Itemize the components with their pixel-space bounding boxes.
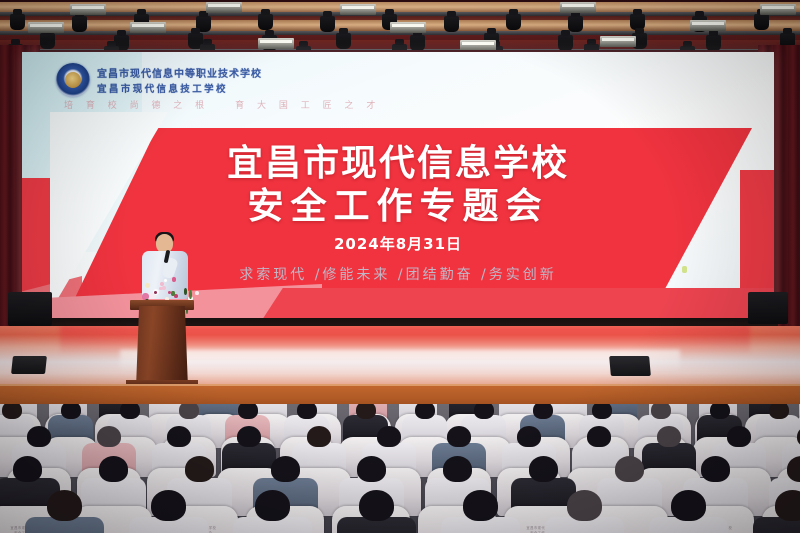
audience-member-head (255, 490, 290, 521)
audience-member-head (97, 426, 121, 447)
motto-right: 育 大 国 工 匠 之 才 (235, 101, 380, 111)
spotlight-icon (258, 14, 273, 30)
audience-member-head (151, 490, 186, 521)
audience-member-head (307, 426, 331, 447)
audience-member-head (297, 404, 317, 419)
school-name-line1: 宜昌市现代信息中等职业技术学校 (97, 65, 262, 80)
screen-title-main: 宜昌市现代信息学校 (22, 146, 774, 182)
spotlight-icon (72, 16, 87, 32)
audience-member-head (474, 404, 494, 419)
audience-member-head (237, 426, 261, 447)
spotlight-icon (410, 35, 425, 51)
school-name-block: 宜昌市现代信息中等职业技术学校 宜昌市现代信息技工学校 (97, 65, 262, 95)
audience-member-head (377, 426, 401, 447)
spotlight-icon (506, 14, 521, 30)
bar-light-icon (206, 2, 242, 13)
spotlight-icon (444, 16, 459, 32)
screen-motto: 培 育 校 尚 德 之 根育 大 国 工 匠 之 才 (64, 98, 380, 111)
flower-leaf (184, 288, 188, 295)
audience-member-head (179, 404, 199, 419)
audience-member-head (517, 426, 541, 447)
bar-light-icon (70, 4, 106, 15)
motto-left: 培 育 校 尚 德 之 根 (64, 101, 209, 111)
podium-area (112, 232, 218, 392)
audience-member-head (615, 456, 644, 482)
audience-member-head (61, 404, 81, 419)
school-emblem-icon (56, 63, 90, 97)
audience-member-head (769, 404, 789, 419)
audience-member-head (671, 490, 706, 521)
bar-light-icon (130, 22, 166, 33)
screen-title-sub: 安全工作专题会 (22, 189, 774, 225)
bar-light-icon (600, 36, 636, 47)
audience-member-head (27, 426, 51, 447)
truss-rail-1 (0, 12, 800, 16)
audience-member-head (185, 456, 214, 482)
spotlight-icon (568, 16, 583, 32)
audience-member-head (359, 490, 394, 521)
audience-member-head (443, 456, 472, 482)
spotlight-icon (706, 35, 721, 51)
audience-member-head (271, 456, 300, 482)
flower-blossom (145, 283, 150, 288)
stage-speaker-left (8, 292, 52, 326)
bar-light-icon (28, 22, 64, 33)
audience-member-head (529, 456, 558, 482)
screen-school-header: 宜昌市现代信息中等职业技术学校 宜昌市现代信息技工学校 (56, 58, 356, 102)
lectern-body (136, 306, 188, 388)
flower-blossom (195, 291, 199, 295)
audience-member-head (120, 404, 140, 419)
spotlight-icon (320, 16, 335, 32)
audience-member-head (238, 404, 258, 419)
bar-light-icon (690, 20, 726, 31)
school-name-line2: 宜昌市现代信息技工学校 (97, 81, 262, 95)
audience-member-head (727, 426, 751, 447)
audience-member-head (356, 404, 376, 419)
bar-light-icon (560, 2, 596, 13)
audience-member-head (13, 456, 42, 482)
floor-monitor-right (609, 356, 651, 376)
bar-light-icon (760, 4, 796, 15)
audience-member-head (567, 490, 602, 521)
spotlight-icon (558, 35, 573, 51)
flower-blossom (172, 277, 177, 282)
bar-light-icon (390, 22, 426, 33)
audience-member-head (99, 456, 128, 482)
audience-seating: 宜昌市现代信息学校安全工作专题会宜昌市现代信息学校安全工作专题会宜昌市现代信息学… (0, 404, 800, 533)
flower-leaf (171, 291, 175, 296)
screen-pixel-artifact (682, 266, 687, 273)
stage-speaker-right (748, 292, 788, 324)
audience-member-head (533, 404, 553, 419)
audience-member-head (2, 404, 22, 419)
audience-member-head (463, 490, 498, 521)
screen-red-stripe-2 (262, 288, 774, 320)
bar-light-icon (258, 38, 294, 49)
flower-blossom (149, 293, 155, 299)
audience-member-head (415, 404, 435, 419)
auditorium-photo: 宜昌市现代信息中等职业技术学校 宜昌市现代信息技工学校 培 育 校 尚 德 之 … (0, 0, 800, 533)
spotlight-icon (754, 14, 769, 30)
audience-member-head (657, 426, 681, 447)
spotlight-icon (336, 33, 351, 49)
audience-member-head (47, 490, 82, 521)
spotlight-icon (40, 33, 55, 49)
audience-member-head (167, 426, 191, 447)
flower-blossom (164, 279, 167, 282)
spotlight-icon (10, 14, 25, 30)
audience-member-head (775, 490, 800, 521)
flower-blossom (159, 287, 163, 291)
audience-member-head (710, 404, 730, 419)
audience-member-head (701, 456, 730, 482)
audience-member-head (651, 404, 671, 419)
bar-light-icon (340, 4, 376, 15)
floor-monitor-left (11, 356, 47, 374)
audience-member-head (357, 456, 386, 482)
audience-member-head (587, 426, 611, 447)
audience-member-head (592, 404, 612, 419)
audience-member-head (447, 426, 471, 447)
